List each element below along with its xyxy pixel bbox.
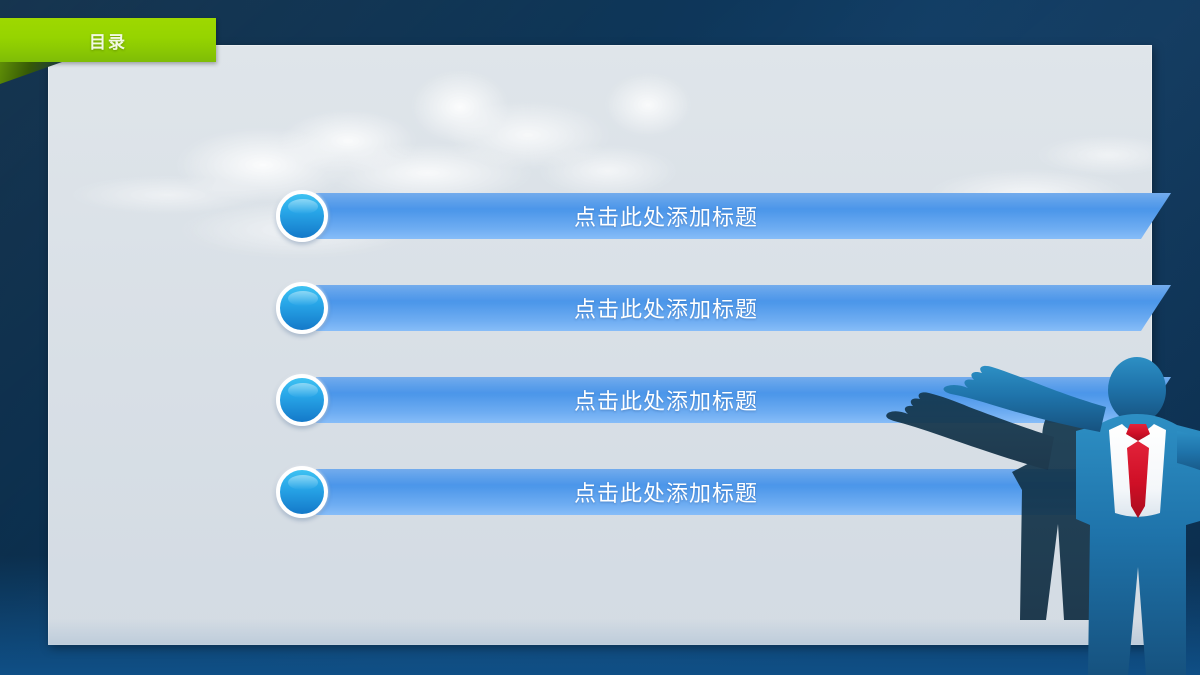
agenda-label-4: 点击此处添加标题 bbox=[316, 469, 1016, 515]
agenda-label-3: 点击此处添加标题 bbox=[316, 377, 1016, 423]
agenda-bullet-2[interactable] bbox=[276, 282, 328, 334]
agenda-label-2: 点击此处添加标题 bbox=[316, 285, 1016, 331]
agenda-label-1: 点击此处添加标题 bbox=[316, 193, 1016, 239]
agenda-bullet-1[interactable] bbox=[276, 190, 328, 242]
agenda-list: 点击此处添加标题 点击此处添加标题 点击此处添加标题 点击此处添加标题 bbox=[0, 0, 1200, 675]
presentation-slide: 目录 点击此处添加标题 点击此处添加标题 点击此处添加标题 点击此处添加标题 bbox=[0, 0, 1200, 675]
agenda-bullet-3[interactable] bbox=[276, 374, 328, 426]
agenda-bullet-4[interactable] bbox=[276, 466, 328, 518]
